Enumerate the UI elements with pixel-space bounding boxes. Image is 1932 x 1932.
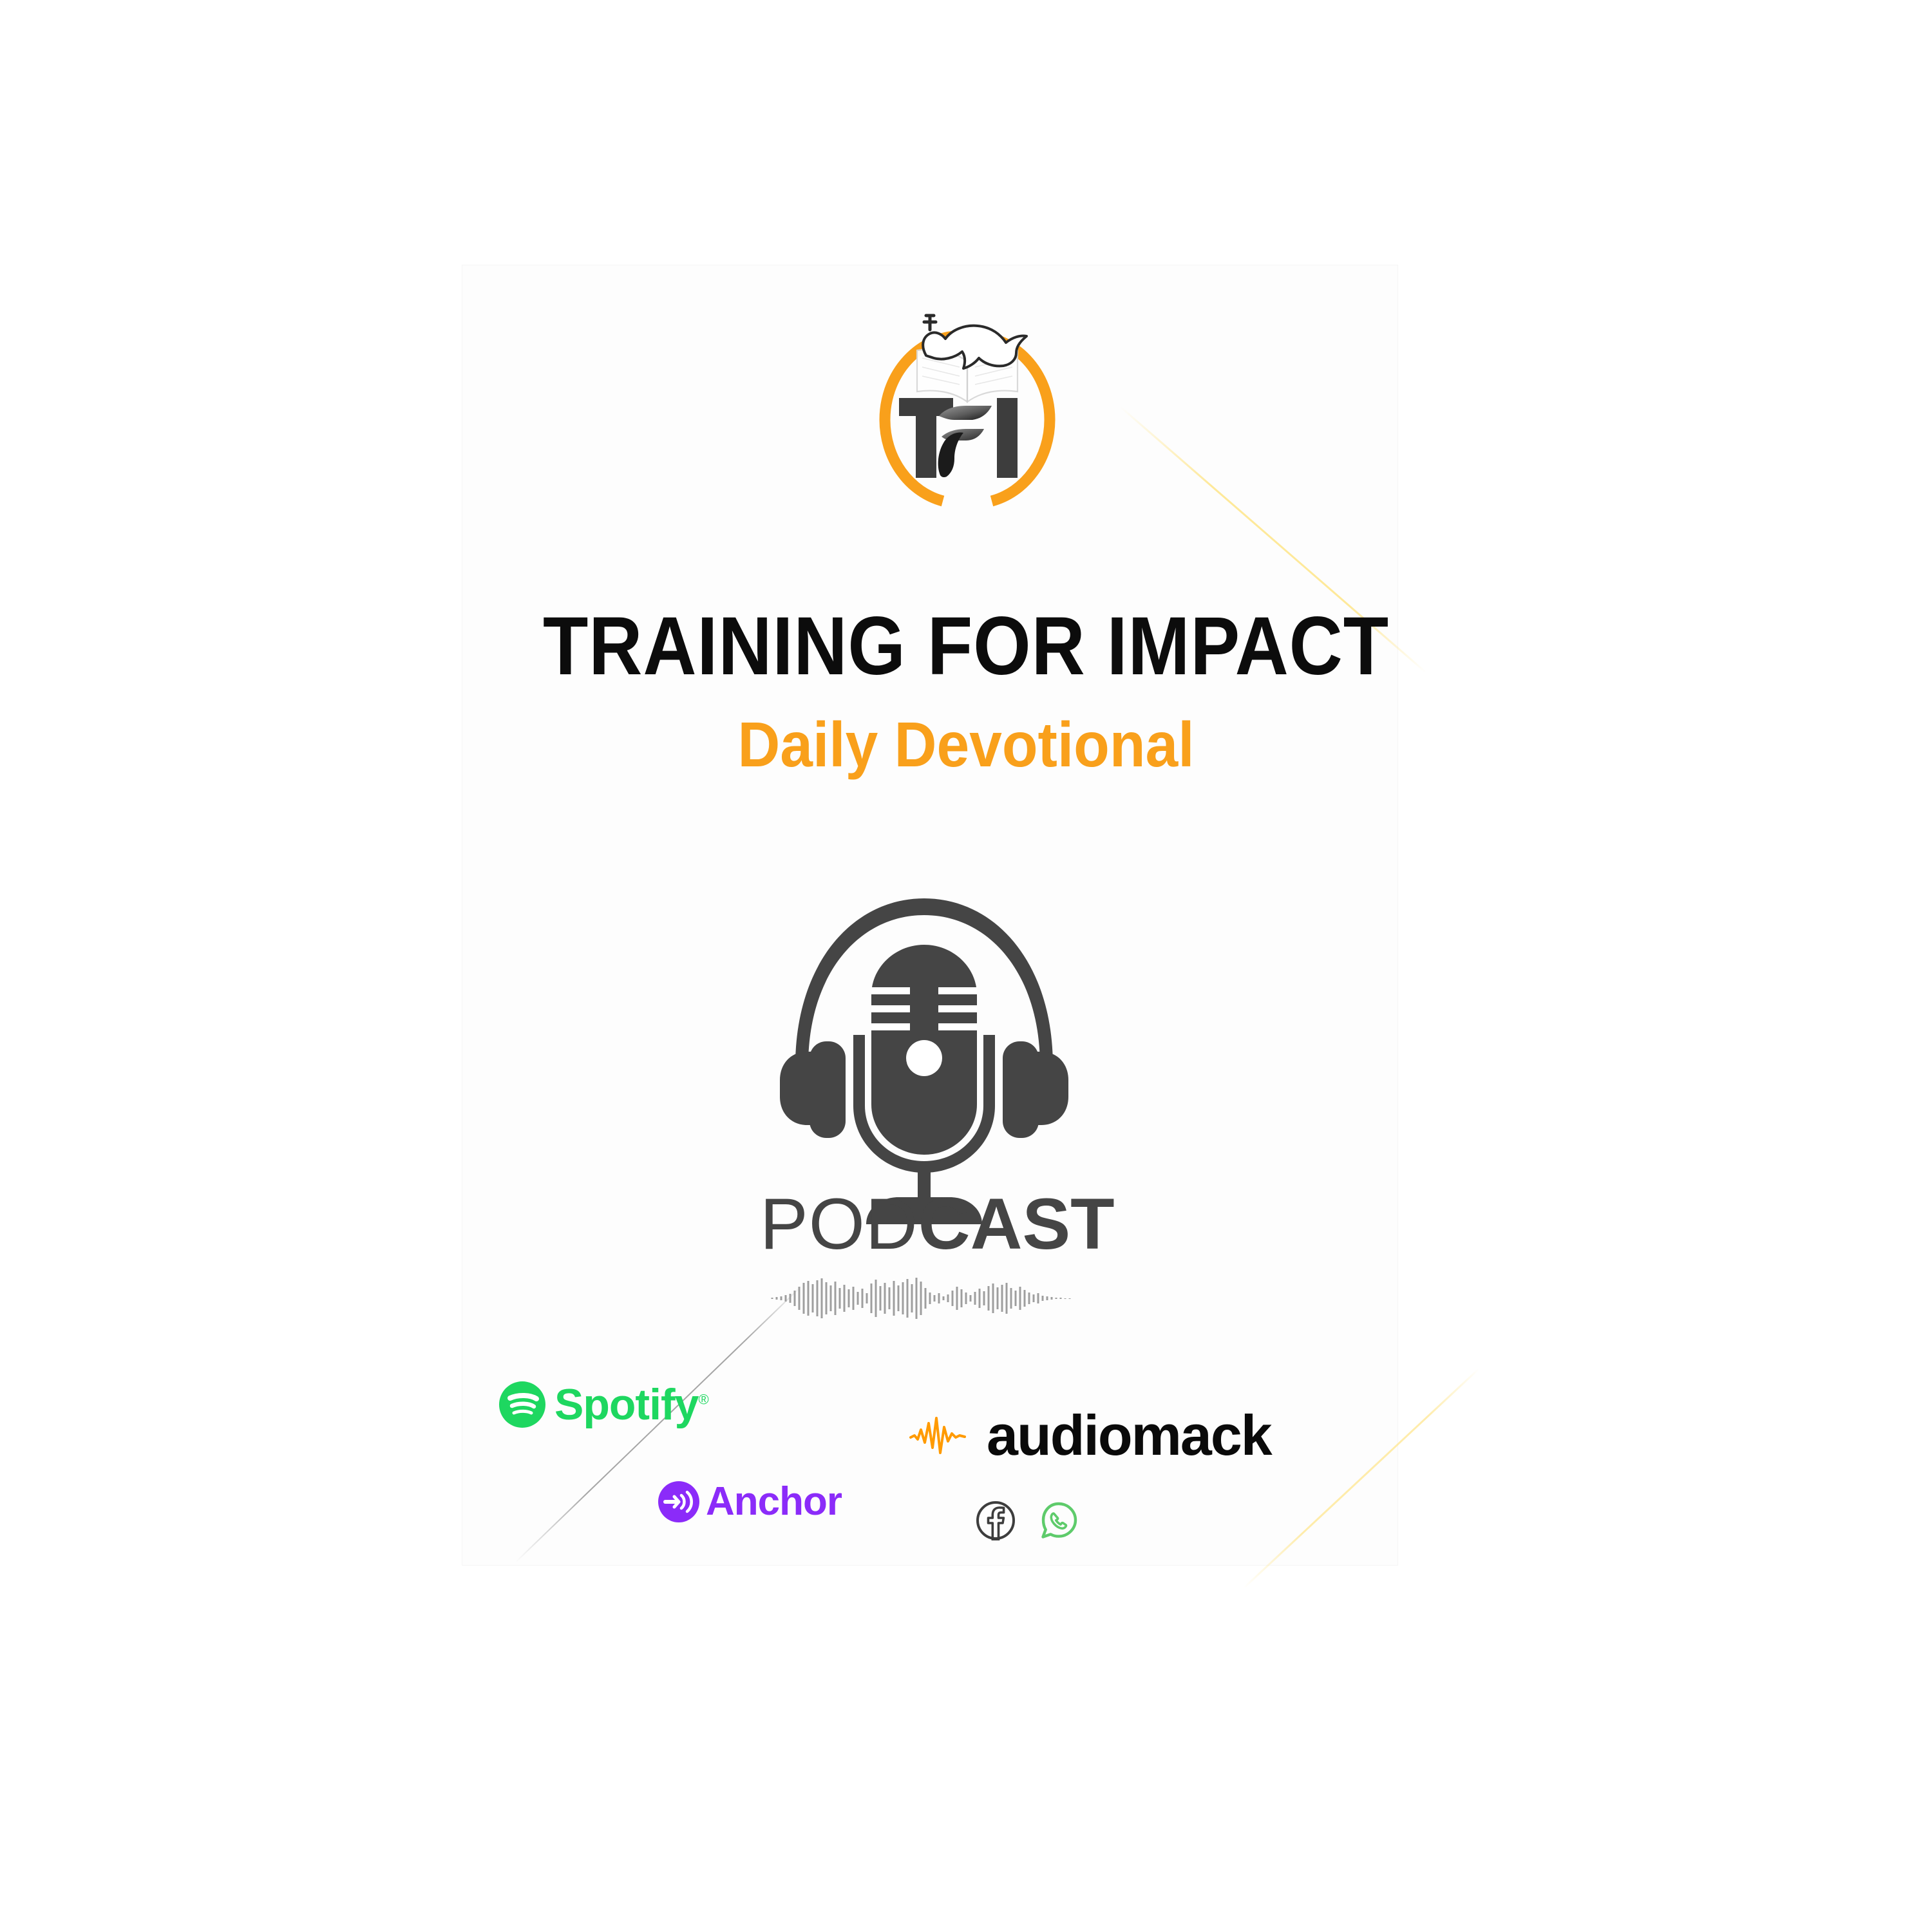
spotify-label: Spotify® <box>554 1383 708 1426</box>
podcast-poster: TRAINING FOR IMPACT Daily Devotional <box>0 0 1932 1932</box>
platform-badge-anchor[interactable]: Anchor <box>658 1481 842 1522</box>
page-title: TRAINING FOR IMPACT <box>97 599 1835 694</box>
facebook-icon[interactable] <box>976 1501 1016 1540</box>
registered-trademark-icon: ® <box>698 1391 708 1407</box>
social-links-row <box>976 1501 1079 1540</box>
podcast-word-bold: CAST <box>918 1184 1115 1264</box>
audiomack-label: audiomack <box>987 1407 1271 1464</box>
anchor-label: Anchor <box>706 1482 842 1522</box>
podcast-wordmark: PODCAST <box>760 1188 1095 1260</box>
platform-badge-audiomack[interactable]: audiomack <box>909 1407 1271 1464</box>
platform-badge-spotify[interactable]: Spotify® <box>499 1381 708 1428</box>
audiomack-waveform-icon <box>909 1414 967 1457</box>
anchor-broadcast-icon <box>658 1481 699 1522</box>
whatsapp-icon[interactable] <box>1039 1501 1079 1540</box>
page-subtitle: Daily Devotional <box>68 708 1864 781</box>
podcast-word-light: POD <box>760 1184 918 1264</box>
tfi-logo <box>832 283 1090 541</box>
spotify-icon <box>499 1381 545 1428</box>
audio-waveform-graphic <box>770 1275 1079 1321</box>
